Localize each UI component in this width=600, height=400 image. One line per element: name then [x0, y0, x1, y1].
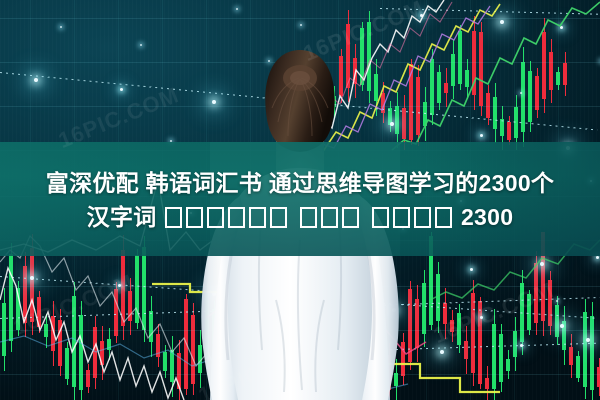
headline-line-1: 富深优配 韩语词汇书 通过思维导图学习的2300个 [0, 166, 600, 200]
missing-glyph-box [186, 207, 203, 228]
missing-glyph-box [165, 207, 182, 228]
missing-glyph-box [270, 207, 287, 228]
missing-glyph-box [321, 207, 338, 228]
headline-line-2: 汉字词 2300 [0, 200, 600, 234]
missing-glyph-box [228, 207, 245, 228]
missing-glyph-box [300, 207, 317, 228]
headline-line-2-suffix: 2300 [461, 204, 513, 230]
missing-glyph-box [372, 207, 389, 228]
missing-glyph-box [393, 207, 410, 228]
headline-text: 富深优配 韩语词汇书 通过思维导图学习的2300个 汉字词 2300 [0, 166, 600, 234]
missing-glyph-box [414, 207, 431, 228]
missing-glyph-box [435, 207, 452, 228]
missing-glyph-box [342, 207, 359, 228]
headline-line-2-prefix: 汉字词 [87, 204, 157, 230]
missing-glyph-box [249, 207, 266, 228]
image-canvas: 富深优配 韩语词汇书 通过思维导图学习的2300个 汉字词 2300 16PIC… [0, 0, 600, 400]
missing-glyph-box [207, 207, 224, 228]
missing-glyph-run [163, 204, 454, 230]
